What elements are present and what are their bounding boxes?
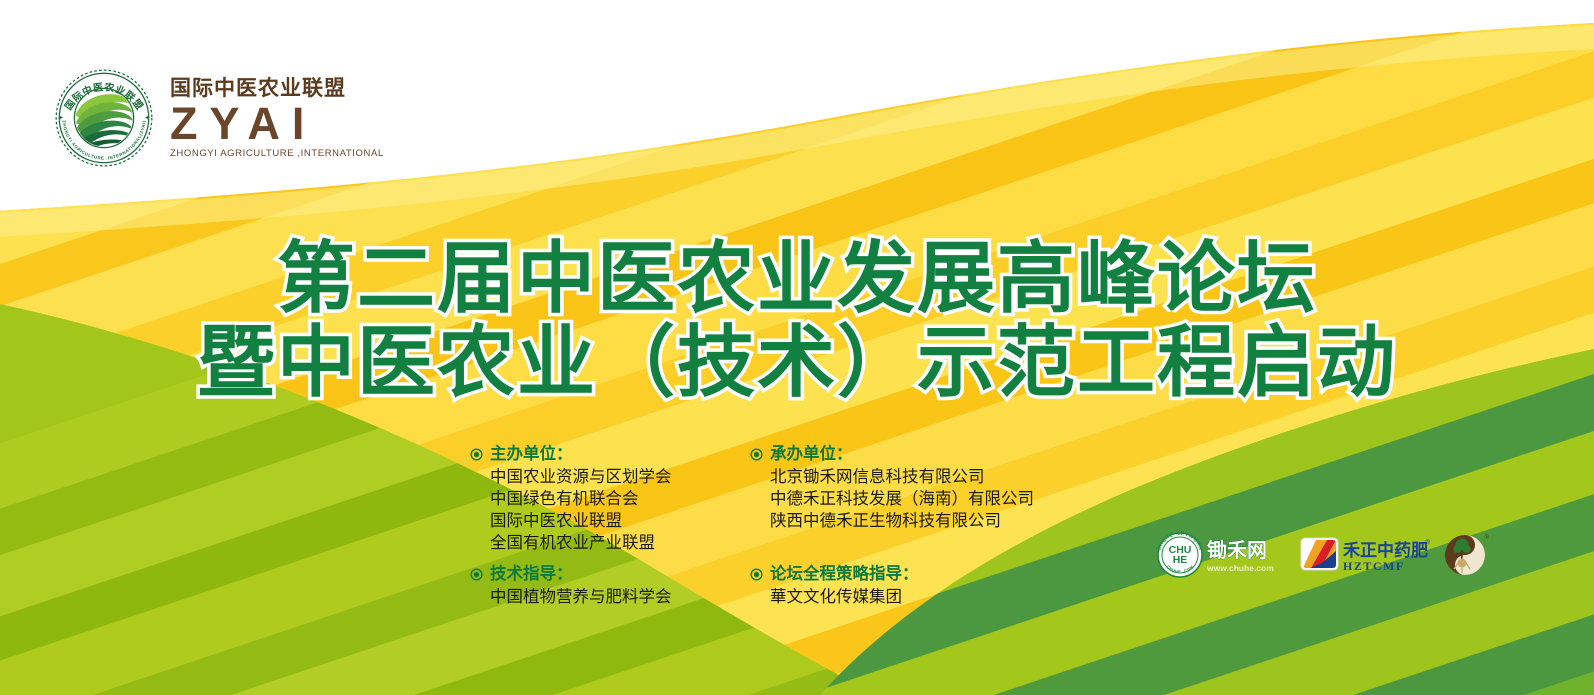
sponsor-logo-chuhe: CHUHE NETWORK CHUHE .COM CHU HE 锄禾网 www.… <box>1152 527 1292 581</box>
credit-group-organizers: 主办单位： 中国农业资源与区划学会 中国绿色有机联合会 国际中医农业联盟 全国有… <box>470 444 728 554</box>
zyai-wordmark: 国际中医农业联盟 ZYAI ZHONGYI AGRICULTURE ,INTER… <box>170 78 384 159</box>
credit-heading-row: 主办单位： <box>470 444 728 465</box>
list-item: 華文文化传媒集团 <box>770 586 1030 608</box>
layout-spacer <box>750 542 1030 564</box>
sponsor-logo-hztcmf: 禾正中药肥 ® HZTCMF <box>1299 528 1434 580</box>
bullet-icon <box>750 448 763 461</box>
bullet-icon <box>470 448 483 461</box>
bullet-icon <box>470 568 483 581</box>
credit-item-list: 中国植物营养与肥料学会 <box>470 586 728 608</box>
hztcmf-registered-mark: ® <box>1425 538 1430 546</box>
list-item: 全国有机农业产业联盟 <box>490 532 728 554</box>
tree-emblem-registered-mark: ® <box>1485 534 1490 541</box>
wordmark-abbr: ZYAI <box>170 101 384 146</box>
credit-item-list: 華文文化传媒集团 <box>750 586 1030 608</box>
svg-text:✦: ✦ <box>58 114 64 122</box>
list-item: 国际中医农业联盟 <box>490 510 728 532</box>
svg-text:HE: HE <box>1173 554 1188 566</box>
credits-block: 主办单位： 中国农业资源与区划学会 中国绿色有机联合会 国际中医农业联盟 全国有… <box>470 444 1030 608</box>
credit-heading-label: 论坛全程策略指导： <box>770 564 919 585</box>
wordmark-chinese: 国际中医农业联盟 <box>170 78 384 99</box>
svg-text:✦: ✦ <box>144 114 150 122</box>
list-item: 中德禾正科技发展（海南）有限公司 <box>770 488 1030 510</box>
credit-heading-label: 技术指导： <box>490 564 573 585</box>
credit-item-list: 中国农业资源与区划学会 中国绿色有机联合会 国际中医农业联盟 全国有机农业产业联… <box>470 466 728 554</box>
zyai-logo-lockup: 国际中医农业联盟 ZHONGYI AGRICULTURE .INTERNATIO… <box>52 66 384 170</box>
credit-heading-label: 承办单位： <box>770 444 853 465</box>
credit-heading-row: 技术指导： <box>470 564 728 585</box>
credit-group-strategic-guidance: 论坛全程策略指导： 華文文化传媒集团 <box>750 564 1030 608</box>
chuhe-name-cn: 锄禾网 <box>1207 539 1267 562</box>
credit-group-technical-guidance: 技术指导： 中国植物营养与肥料学会 <box>470 564 728 608</box>
list-item: 中国绿色有机联合会 <box>490 488 728 510</box>
hztcmf-name-en: HZTCMF <box>1343 559 1405 573</box>
credits-column-left: 主办单位： 中国农业资源与区划学会 中国绿色有机联合会 国际中医农业联盟 全国有… <box>470 444 728 608</box>
wordmark-english: ZHONGYI AGRICULTURE ,INTERNATIONAL <box>170 149 384 159</box>
conference-banner: 国际中医农业联盟 ZHONGYI AGRICULTURE .INTERNATIO… <box>0 0 1594 695</box>
list-item: 北京锄禾网信息科技有限公司 <box>770 466 1030 488</box>
sponsor-logo-tree-emblem: ® <box>1441 528 1493 580</box>
bullet-icon <box>750 568 763 581</box>
list-item: 陕西中德禾正生物科技有限公司 <box>770 510 1030 532</box>
zyai-seal-icon: 国际中医农业联盟 ZHONGYI AGRICULTURE .INTERNATIO… <box>52 66 156 170</box>
credit-heading-row: 论坛全程策略指导： <box>750 564 1030 585</box>
list-item: 中国农业资源与区划学会 <box>490 466 728 488</box>
credits-column-right: 承办单位： 北京锄禾网信息科技有限公司 中德禾正科技发展（海南）有限公司 陕西中… <box>750 444 1030 608</box>
chuhe-url: www.chuhe.com <box>1206 563 1274 573</box>
sponsor-logo-row: CHUHE NETWORK CHUHE .COM CHU HE 锄禾网 www.… <box>1152 527 1493 581</box>
list-item: 中国植物营养与肥料学会 <box>490 586 728 608</box>
credit-group-co-organizers: 承办单位： 北京锄禾网信息科技有限公司 中德禾正科技发展（海南）有限公司 陕西中… <box>750 444 1030 532</box>
credit-heading-label: 主办单位： <box>490 444 573 465</box>
credit-heading-row: 承办单位： <box>750 444 1030 465</box>
hztcmf-name-cn: 禾正中药肥 <box>1343 540 1428 560</box>
credit-item-list: 北京锄禾网信息科技有限公司 中德禾正科技发展（海南）有限公司 陕西中德禾正生物科… <box>750 466 1030 532</box>
